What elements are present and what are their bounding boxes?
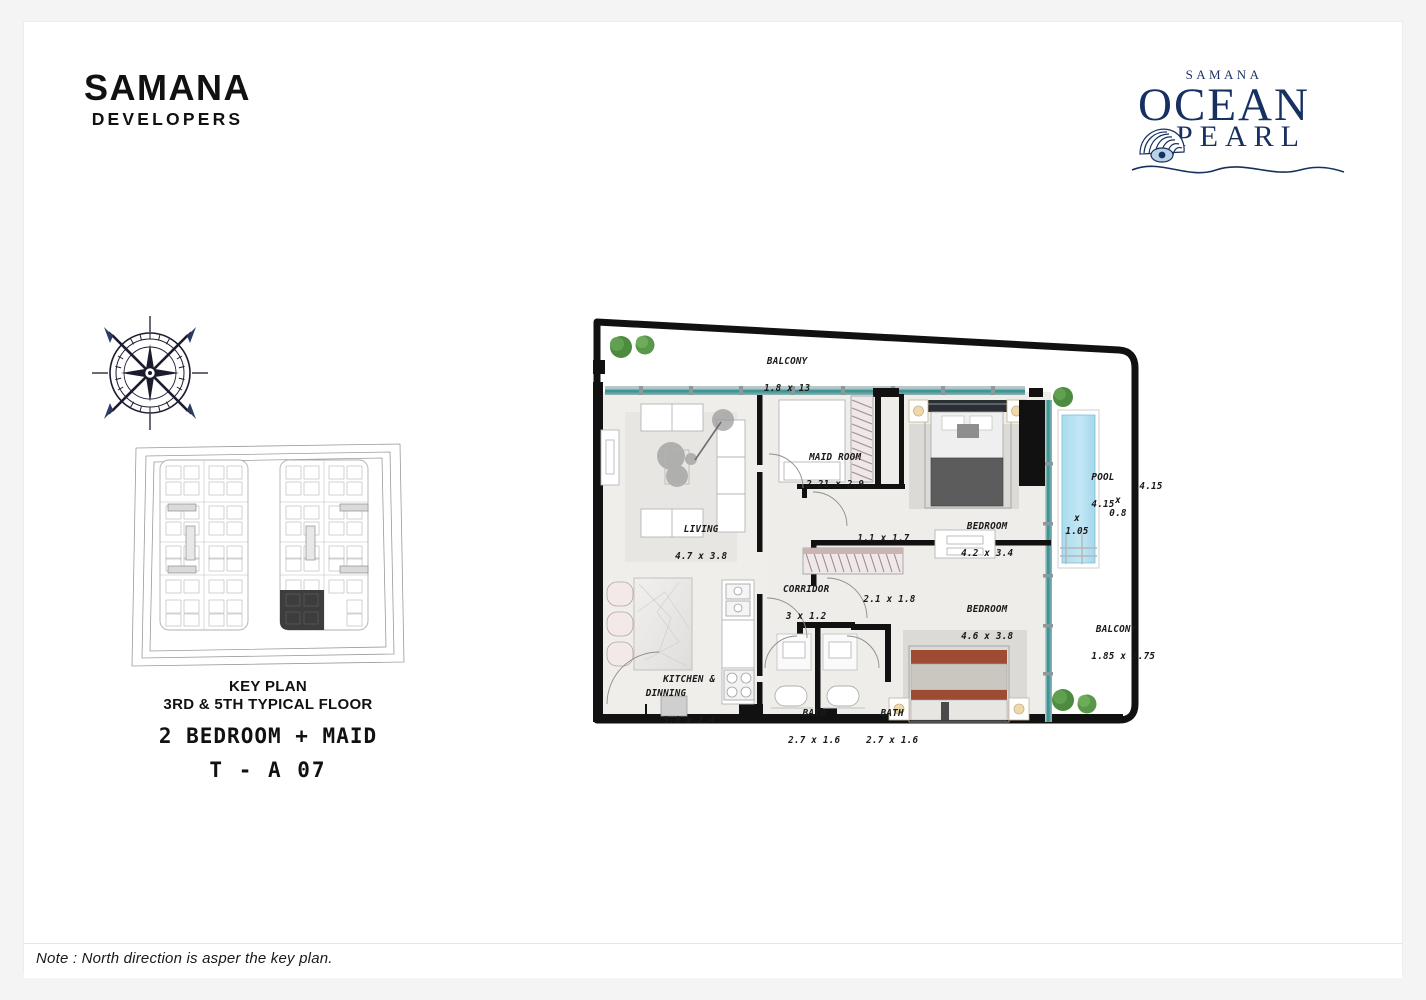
- bedroom-2-furniture: [889, 630, 1029, 722]
- ocean-pearl-logo: SAMANA OCEAN PEARL: [1124, 68, 1324, 152]
- wave-icon: [1130, 154, 1346, 178]
- floorplan-sheet: SAMANA DEVELOPERS SAMANA OCEAN PEARL: [24, 22, 1402, 972]
- room-dims: 2.7 x 1.6: [866, 735, 918, 746]
- key-plan-caption-line2: 3RD & 5TH TYPICAL FLOOR: [128, 696, 408, 714]
- samana-developers-logo: SAMANA DEVELOPERS: [84, 70, 251, 129]
- private-pool: [1058, 410, 1099, 568]
- compass-rose-icon: [90, 314, 210, 437]
- walk-in-closet-hatch: [803, 548, 903, 574]
- keyplan-highlighted-unit: [280, 590, 324, 630]
- room-dims: 2.7 x 1.6: [788, 735, 840, 746]
- unit-type-title: 2 BEDROOM + MAID: [128, 724, 408, 748]
- key-plan-caption: KEY PLAN 3RD & 5TH TYPICAL FLOOR: [128, 678, 408, 715]
- note-bar: Note : North direction is asper the key …: [24, 943, 1402, 978]
- unit-title-block: 2 BEDROOM + MAID T - A 07: [128, 724, 408, 782]
- samana-wordmark: SAMANA: [84, 70, 251, 106]
- unit-code: T - A 07: [128, 758, 408, 782]
- key-plan-diagram: [128, 442, 408, 672]
- unit-floor-plan: BALCONY 1.8 x 13 LIVING 4.7 x 3.8 MAID R…: [579, 312, 1149, 737]
- key-plan-caption-line1: KEY PLAN: [128, 678, 408, 696]
- page-background: SAMANA DEVELOPERS SAMANA OCEAN PEARL: [0, 0, 1426, 1000]
- wardrobe-hatch: [851, 396, 873, 482]
- note-text: Note : North direction is asper the key …: [36, 950, 333, 967]
- developers-wordmark: DEVELOPERS: [84, 111, 251, 129]
